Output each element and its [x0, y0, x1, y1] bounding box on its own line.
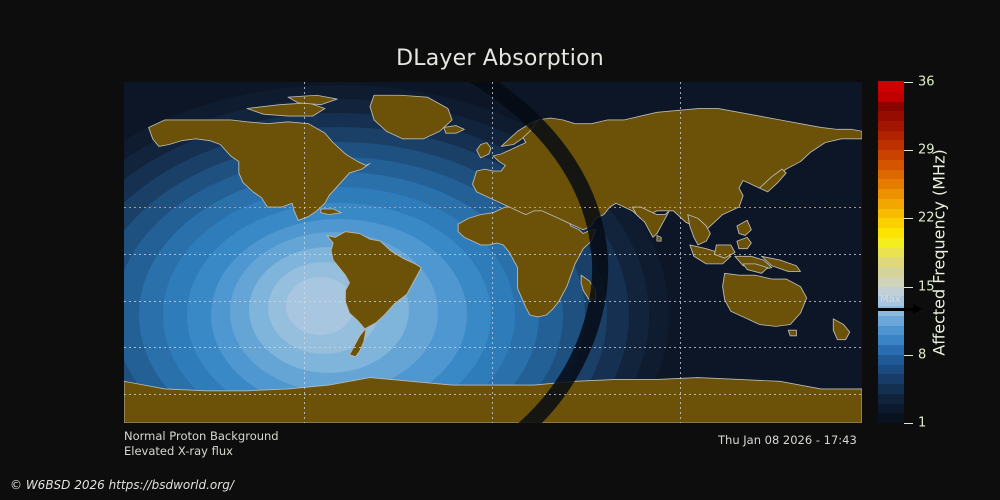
gridline-lat-675n: [124, 207, 862, 208]
xray-status: Elevated X-ray flux: [124, 444, 279, 459]
colorbar-segment: [878, 111, 904, 121]
colorbar-segment: [878, 159, 904, 169]
colorbar-tick: [904, 355, 913, 356]
gridline-lat-225s: [124, 394, 862, 395]
colorbar-segment: [878, 237, 904, 247]
timestamp: Thu Jan 08 2026 - 17:43: [718, 433, 857, 447]
colorbar-segment: [878, 140, 904, 150]
colorbar-segment: [878, 403, 904, 413]
colorbar-segment: [878, 247, 904, 257]
colorbar-segment: [878, 120, 904, 130]
colorbar-segment: [878, 150, 904, 160]
colorbar-segment: [878, 276, 904, 286]
colorbar-segment: [878, 364, 904, 374]
colorbar-tick: [904, 150, 913, 151]
colorbar-tick: [904, 218, 913, 219]
page-title: DLayer Absorption: [0, 46, 1000, 71]
max-marker-label: Max: [880, 294, 901, 305]
copyright-notice: © W6BSD 2026 https://bsdworld.org/: [10, 478, 234, 492]
colorbar-segment: [878, 413, 904, 423]
colorbar-segment: [878, 228, 904, 238]
colorbar-tick: [904, 82, 913, 83]
colorbar-segment: [878, 91, 904, 101]
colorbar-axis-label: Affected Frequency (MHz): [925, 82, 953, 423]
colorbar-segment: [878, 169, 904, 179]
colorbar-segment: [878, 218, 904, 228]
colorbar-segment: [878, 257, 904, 267]
colorbar-segment: [878, 81, 904, 91]
colorbar-segment: [878, 189, 904, 199]
colorbar-segment: [878, 374, 904, 384]
colorbar-segment: [878, 101, 904, 111]
colorbar-segment: [878, 179, 904, 189]
colorbar-segment: [878, 130, 904, 140]
gridline-lon-90e: [680, 82, 681, 423]
colorbar-segment: [878, 383, 904, 393]
gridline-lon-0: [492, 82, 493, 423]
colorbar-tick: [904, 423, 913, 424]
graticule: [124, 82, 862, 423]
colorbar-segment: [878, 325, 904, 335]
map-panel[interactable]: [124, 82, 862, 423]
gridline-lat-0: [124, 347, 862, 348]
colorbar-tick: [904, 287, 913, 288]
proton-status: Normal Proton Background: [124, 429, 279, 444]
colorbar-segment: [878, 393, 904, 403]
colorbar-axis-label-text: Affected Frequency (MHz): [930, 149, 949, 355]
colorbar-segment: [878, 208, 904, 218]
gridline-lat-45n: [124, 254, 862, 255]
colorbar-segment: [878, 344, 904, 354]
colorbar-segment: [878, 354, 904, 364]
colorbar-max-marker: Max: [878, 297, 948, 319]
max-marker-arrow-icon: [878, 308, 914, 311]
gridline-lat-225n: [124, 301, 862, 302]
colorbar-segment: [878, 335, 904, 345]
colorbar-segment: [878, 267, 904, 277]
status-notes: Normal Proton Background Elevated X-ray …: [124, 429, 279, 459]
colorbar[interactable]: [878, 82, 904, 423]
gridline-lon-90w: [304, 82, 305, 423]
colorbar-segment: [878, 198, 904, 208]
